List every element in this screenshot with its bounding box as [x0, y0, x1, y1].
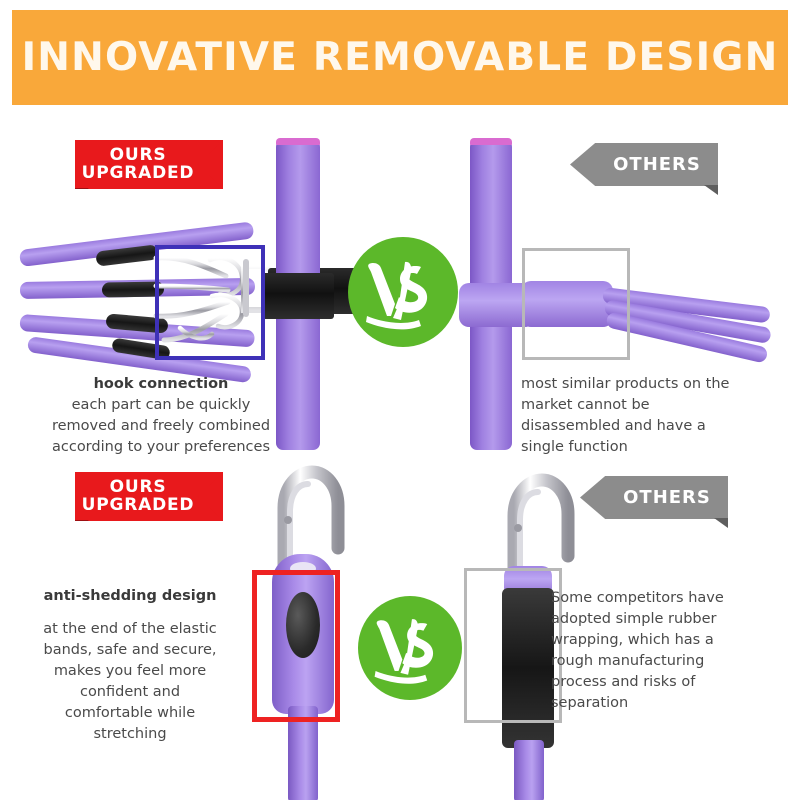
bar-end-cap-others [470, 138, 512, 145]
caption-line: Some competitors have [551, 590, 724, 606]
caption-title: hook connection [24, 374, 298, 395]
ribbon-fold-tab [704, 185, 718, 195]
caption-title: anti-shedding design [22, 586, 238, 607]
header-banner: INNOVATIVE REMOVABLE DESIGN [12, 10, 788, 105]
caption-line: each part can be quickly [72, 397, 251, 413]
caption-line: removed and freely combined [52, 418, 270, 434]
caption-line: wrapping, which has a [551, 632, 714, 648]
ribbon-others-1: OTHERS [570, 143, 718, 186]
caption-line: rough manufacturing [551, 653, 704, 669]
vs-badge-2 [358, 596, 462, 700]
ribbon-ours-upgraded-2: OURS UPGRADED [75, 472, 223, 521]
highlight-box-anti-shedding [252, 570, 340, 722]
caption-line: at the end of the elastic [43, 621, 217, 637]
page-title: INNOVATIVE REMOVABLE DESIGN [22, 35, 779, 80]
highlight-box-others-rubber [464, 568, 562, 723]
caption-line: comfortable while [65, 705, 195, 721]
caption-ours-2: anti-shedding design at the end of the e… [22, 586, 238, 745]
caption-line: separation [551, 695, 628, 711]
vs-letters-icon [357, 246, 449, 338]
black-strap-overlay [262, 273, 334, 319]
caption-line: confident and [80, 684, 180, 700]
ribbon-fold-tab [714, 518, 728, 528]
caption-line: disassembled and have a [521, 418, 706, 434]
caption-line: most similar products on the [521, 376, 729, 392]
vs-badge-1 [348, 237, 458, 347]
highlight-box-others-wrap [522, 248, 630, 360]
ribbon-label: OTHERS [613, 154, 701, 175]
caption-line: market cannot be [521, 397, 650, 413]
ribbon-label-line2: UPGRADED [82, 165, 195, 183]
ribbon-fold-tab [75, 520, 89, 530]
ribbon-label-line1: OURS [110, 147, 167, 165]
ribbon-ours-upgraded-1: OURS UPGRADED [75, 140, 223, 189]
caption-line: makes you feel more [54, 663, 206, 679]
caption-line: bands, safe and secure, [43, 642, 216, 658]
caption-line: single function [521, 439, 628, 455]
band-tube-vertical [514, 740, 544, 800]
ribbon-label: OTHERS [623, 487, 711, 508]
highlight-box-hook [155, 245, 265, 360]
infographic-page: INNOVATIVE REMOVABLE DESIGN [0, 0, 800, 800]
ribbon-label-line1: OURS [110, 479, 167, 497]
caption-line: according to your preferences [52, 439, 270, 455]
vs-letters-icon [366, 604, 454, 692]
caption-others-2: Some competitors have adopted simple rub… [551, 588, 787, 714]
caption-others-1: most similar products on the market cann… [521, 374, 783, 458]
caption-line: process and risks of [551, 674, 695, 690]
bar-end-cap [276, 138, 320, 145]
caption-line: adopted simple rubber [551, 611, 717, 627]
caption-line: stretching [93, 726, 166, 742]
caption-ours-1: hook connection each part can be quickly… [24, 374, 298, 458]
ribbon-label-line2: UPGRADED [82, 497, 195, 515]
